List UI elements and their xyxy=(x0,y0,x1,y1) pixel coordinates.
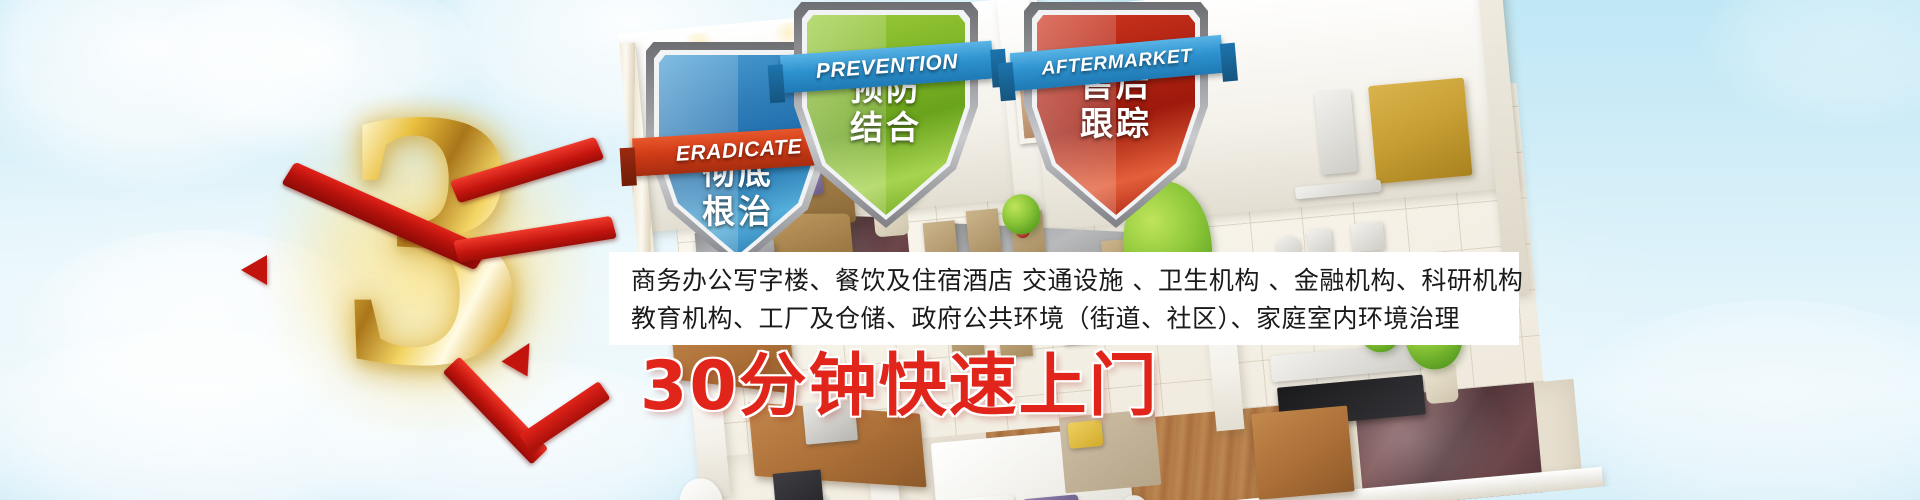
ribbon-tail-left xyxy=(241,255,267,285)
shield-badge-prevention: 预防 结合 PREVENTION xyxy=(800,8,972,222)
golden-number-three: 3 xyxy=(255,95,605,435)
arrow-head xyxy=(502,336,543,377)
red-arrow-pointer xyxy=(451,327,581,457)
promotional-banner: 3 彻底 根治 ERADICATE 预防 结合 PREVENTION xyxy=(0,0,1920,500)
shield-cn-line2: 跟踪 xyxy=(1030,105,1202,144)
shield-badge-aftermarket: 售后 跟踪 AFTERMARKET xyxy=(1030,8,1202,222)
service-scope-textbox: 商务办公写字楼、餐饮及住宿酒店 交通设施 、卫生机构 、金融机构、科研机构 教育… xyxy=(609,252,1519,345)
service-scope-line-2: 教育机构、工厂及仓储、政府公共环境（街道、社区）、家庭室内环境治理 xyxy=(631,300,1519,338)
headline-text: 30分钟快速上门 xyxy=(640,353,1159,421)
service-scope-line-1: 商务办公写字楼、餐饮及住宿酒店 交通设施 、卫生机构 、金融机构、科研机构 xyxy=(631,262,1519,300)
shield-cn-line2: 根治 xyxy=(652,193,824,232)
shield-cn-line2: 结合 xyxy=(800,109,972,148)
